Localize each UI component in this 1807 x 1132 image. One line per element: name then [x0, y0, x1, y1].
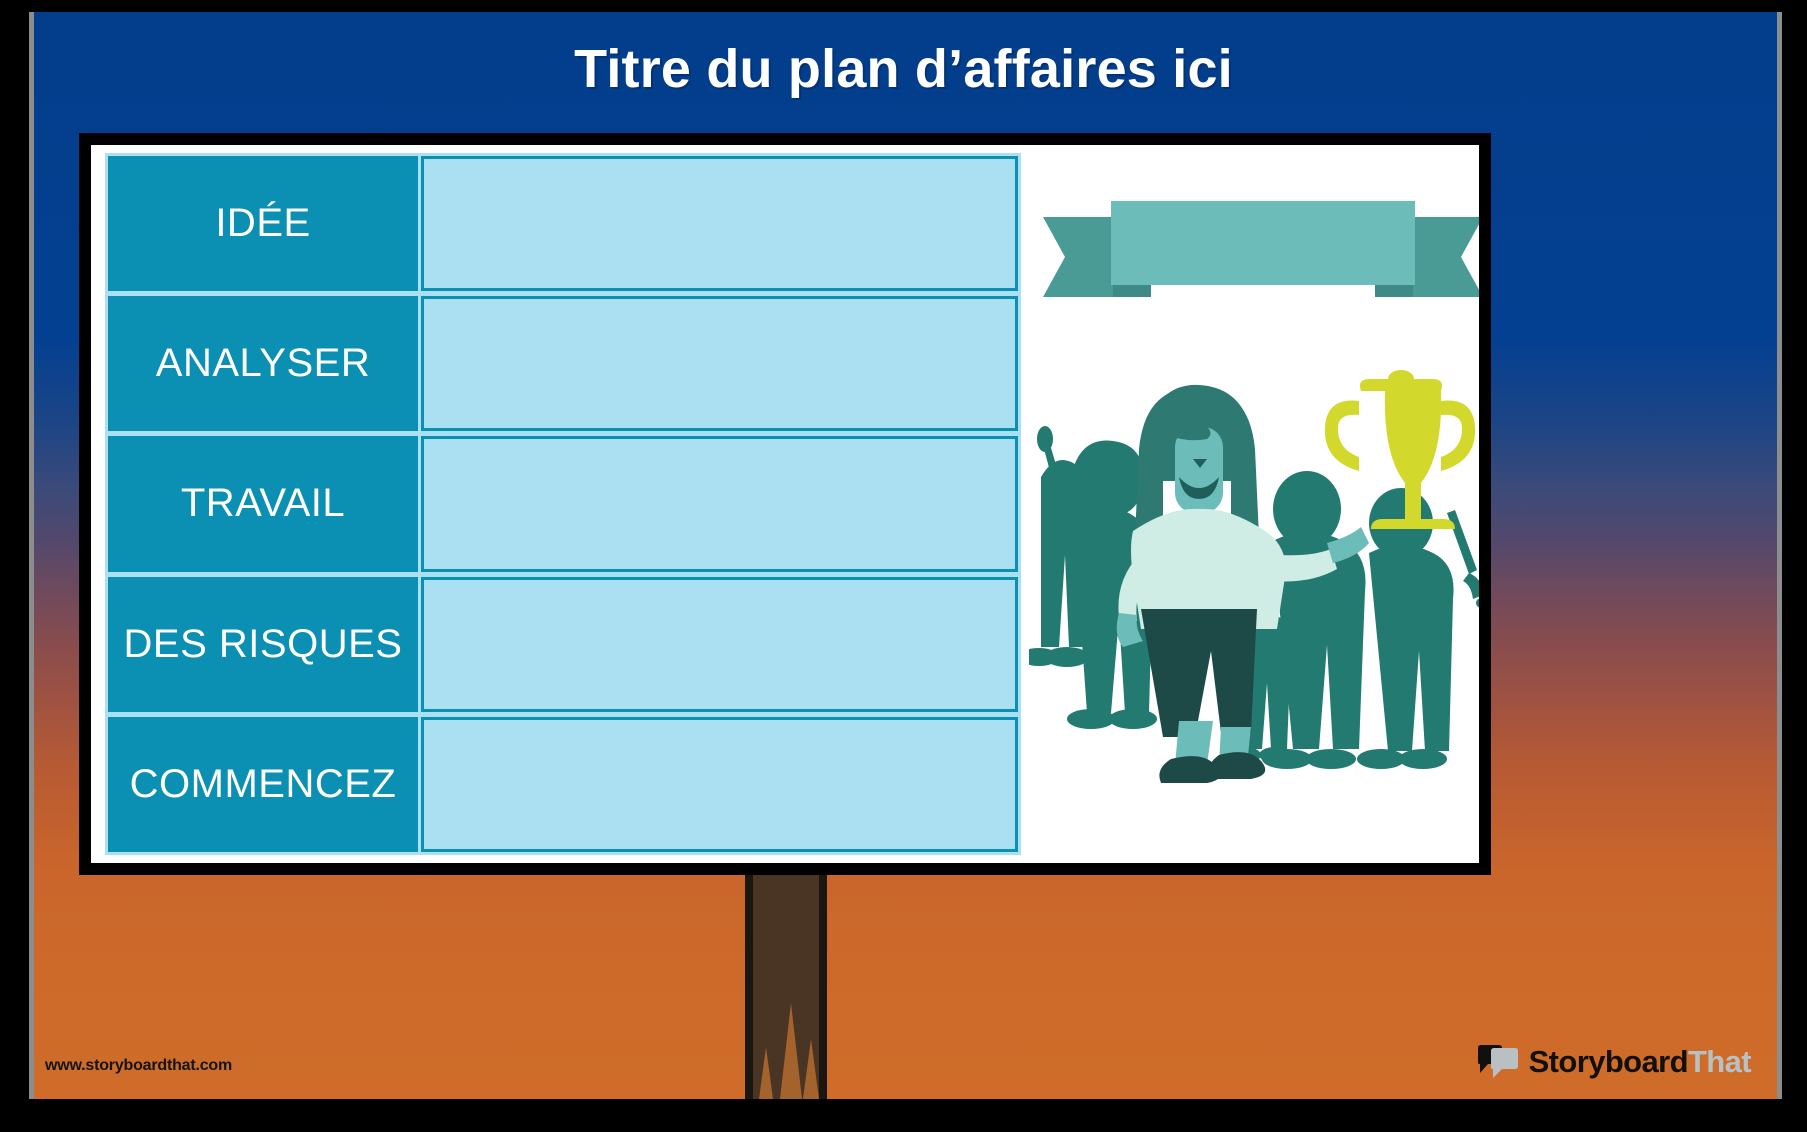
- row-label-commencez: COMMENCEZ: [108, 717, 418, 852]
- page-title: Titre du plan d’affaires ici: [0, 38, 1807, 100]
- row-label-idee: IDÉE: [108, 156, 418, 291]
- post-grain: [803, 1039, 819, 1099]
- row-field-commencez[interactable]: [421, 717, 1018, 852]
- post-grain: [780, 1003, 802, 1099]
- billboard-post: [745, 875, 827, 1099]
- site-url[interactable]: www.storyboardthat.com: [45, 1057, 232, 1075]
- speech-bubble-icon: [1477, 1045, 1519, 1079]
- row-field-travail[interactable]: [421, 436, 1018, 571]
- poster-canvas: Titre du plan d’affaires ici IDÉE ANALYS…: [0, 0, 1807, 1132]
- table-row: IDÉE: [108, 156, 1018, 291]
- table-row: DES RISQUES: [108, 577, 1018, 712]
- row-label-travail: TRAVAIL: [108, 436, 418, 571]
- row-field-des-risques[interactable]: [421, 577, 1018, 712]
- brand-word-that: That: [1688, 1044, 1751, 1079]
- row-field-idee[interactable]: [421, 156, 1018, 291]
- table-row: COMMENCEZ: [108, 717, 1018, 852]
- table-row: ANALYSER: [108, 296, 1018, 431]
- planner-grid: IDÉE ANALYSER TRAVAIL DES RISQUES COMMEN: [105, 153, 1021, 855]
- billboard-face: IDÉE ANALYSER TRAVAIL DES RISQUES COMMEN: [91, 145, 1479, 863]
- banner-ribbon-icon: [1043, 197, 1479, 307]
- billboard-frame: IDÉE ANALYSER TRAVAIL DES RISQUES COMMEN: [79, 133, 1491, 875]
- art-pane: [1021, 145, 1479, 863]
- row-label-analyser: ANALYSER: [108, 296, 418, 431]
- brand-word-storyboard: Storyboard: [1529, 1044, 1688, 1079]
- team-with-trophy-illustration: [1029, 327, 1479, 827]
- storyboardthat-logo[interactable]: StoryboardThat: [1477, 1044, 1751, 1080]
- post-grain: [759, 1047, 773, 1099]
- right-rail: [1777, 12, 1782, 1099]
- row-field-analyser[interactable]: [421, 296, 1018, 431]
- row-label-des-risques: DES RISQUES: [108, 577, 418, 712]
- table-row: TRAVAIL: [108, 436, 1018, 571]
- left-rail: [29, 12, 34, 1099]
- brand-wordmark: StoryboardThat: [1529, 1044, 1751, 1080]
